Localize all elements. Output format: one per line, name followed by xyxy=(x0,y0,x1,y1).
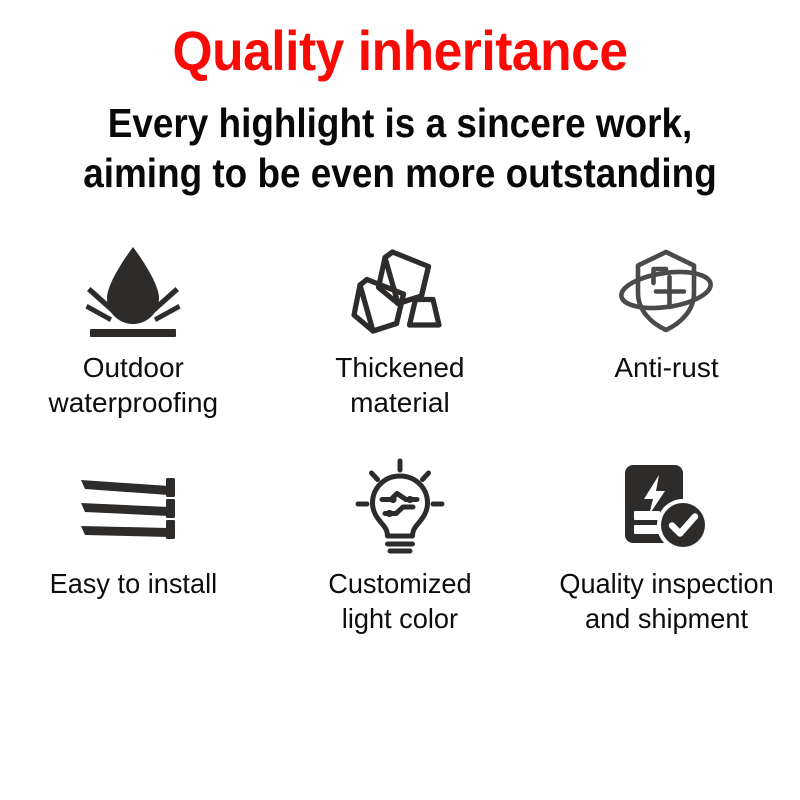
feature-label: Anti-rust xyxy=(614,350,718,385)
feature-label: Customized light color xyxy=(328,566,471,636)
header: Quality inheritance Every highlight is a… xyxy=(0,0,800,198)
feature-label-line: Outdoor xyxy=(48,350,218,385)
light-bulb-circuit-icon xyxy=(349,452,451,562)
subtitle: Every highlight is a sincere work, aimin… xyxy=(40,98,760,198)
stacked-ingots-icon xyxy=(345,236,455,346)
feature-label-line: material xyxy=(335,385,464,420)
feature-label: Easy to install xyxy=(50,566,218,601)
feature-item-thickened-material: Thickened material xyxy=(267,236,534,420)
feature-label-line: and shipment xyxy=(559,601,773,636)
feature-label-line: Quality inspection xyxy=(559,566,773,601)
subtitle-line-2: aiming to be even more outstanding xyxy=(40,148,760,198)
feature-label-line: Anti-rust xyxy=(614,350,718,385)
feature-item-anti-rust: Anti-rust xyxy=(533,236,800,420)
page-title: Quality inheritance xyxy=(32,18,768,84)
feature-label-line: waterproofing xyxy=(48,385,218,420)
feature-label: Quality inspection and shipment xyxy=(559,566,773,636)
feature-label-line: Easy to install xyxy=(50,566,218,601)
feature-item-customized-light-color: Customized light color xyxy=(267,452,534,636)
feature-label-line: Customized xyxy=(328,566,471,601)
feature-row: Easy to install xyxy=(0,452,800,636)
document-check-icon xyxy=(619,452,713,562)
feature-item-outdoor-waterproofing: Outdoor waterproofing xyxy=(0,236,267,420)
feature-item-easy-to-install: Easy to install xyxy=(0,452,267,636)
subtitle-line-1: Every highlight is a sincere work, xyxy=(40,98,760,148)
feature-grid: Outdoor waterproofing xyxy=(0,236,800,636)
feature-row: Outdoor waterproofing xyxy=(0,236,800,420)
feature-label-line: Thickened xyxy=(335,350,464,385)
water-drop-splash-icon xyxy=(74,236,192,346)
feature-item-quality-inspection: Quality inspection and shipment xyxy=(533,452,800,636)
feature-label: Outdoor waterproofing xyxy=(48,350,218,420)
nails-icon xyxy=(73,452,193,562)
feature-label: Thickened material xyxy=(335,350,464,420)
promo-banner: Quality inheritance Every highlight is a… xyxy=(0,0,800,800)
shield-orbit-anti-rust-icon xyxy=(614,236,718,346)
feature-label-line: light color xyxy=(328,601,471,636)
